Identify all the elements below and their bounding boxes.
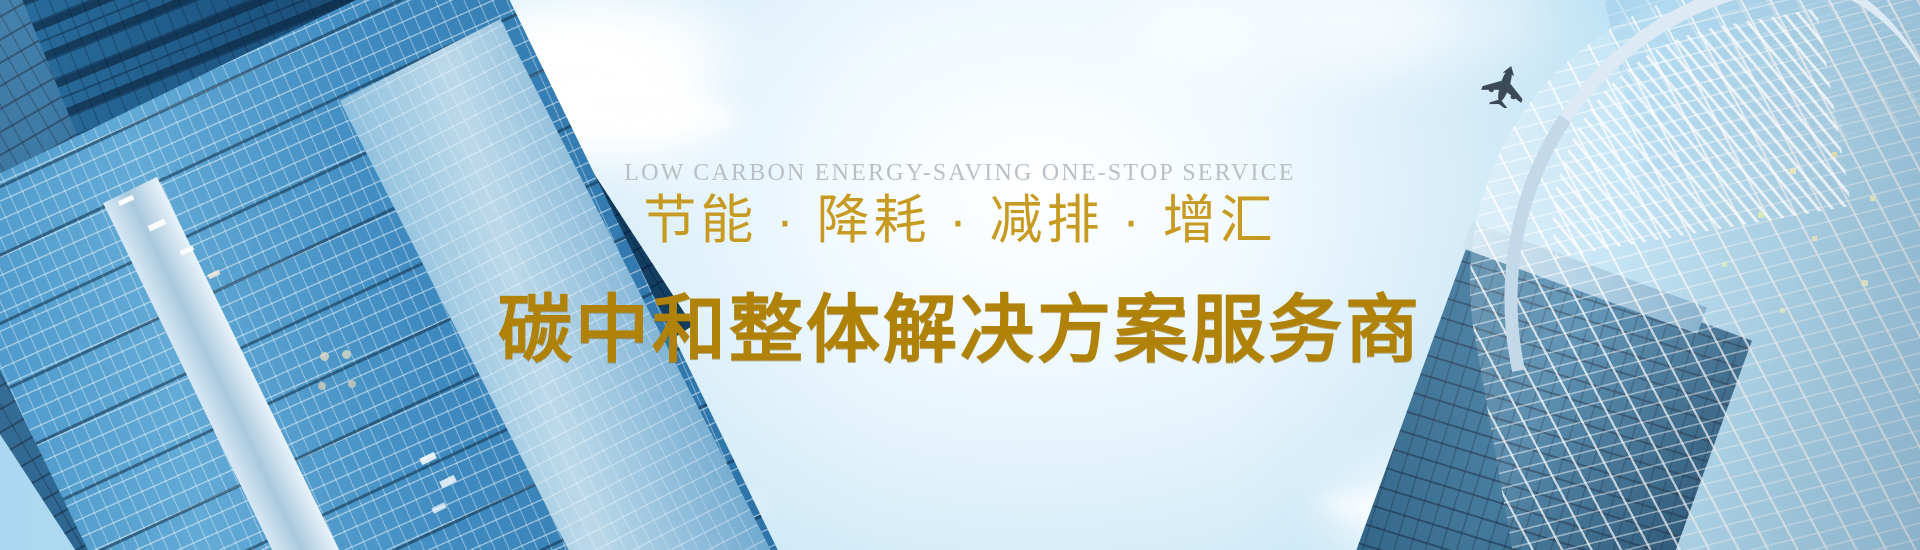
hero-banner: LOW CARBON ENERGY-SAVING ONE-STOP SERVIC…: [0, 0, 1920, 550]
headline-main: 碳中和整体解决方案服务商: [0, 270, 1920, 377]
headline-subtitle: 节能 · 降耗 · 减排 · 增汇: [0, 178, 1920, 254]
airplane-icon: [1478, 62, 1532, 108]
